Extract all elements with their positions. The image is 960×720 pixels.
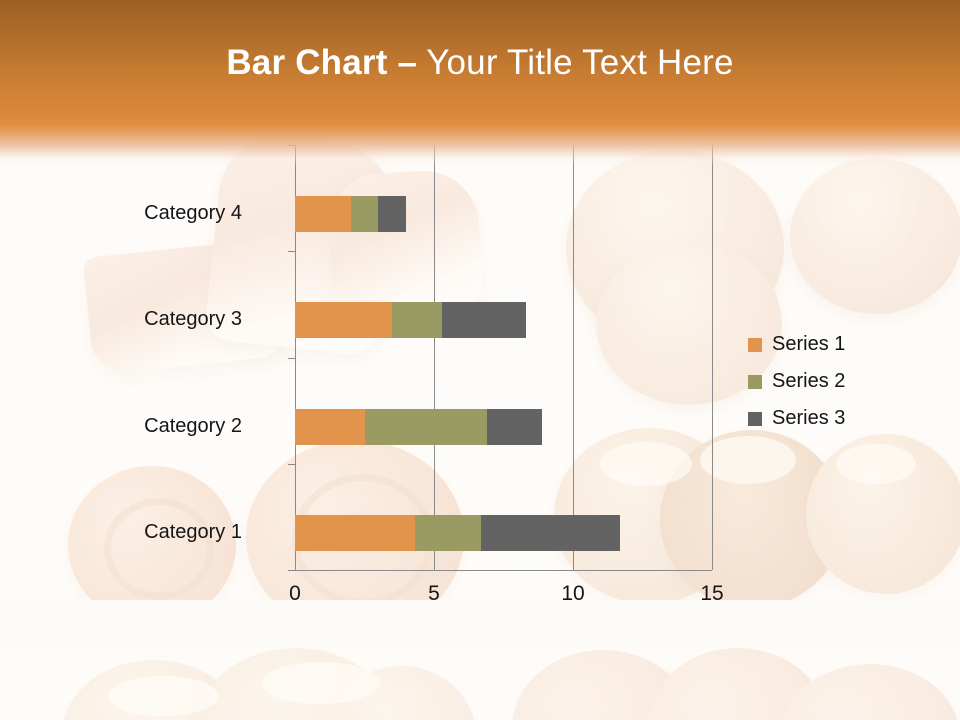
gridline-10 bbox=[573, 145, 574, 570]
bar-segment-series-1[interactable] bbox=[295, 515, 415, 551]
legend-label: Series 2 bbox=[772, 370, 845, 393]
category-label-category-2: Category 2 bbox=[144, 415, 242, 438]
bar-segment-series-2[interactable] bbox=[365, 409, 487, 445]
x-tick-label-10: 10 bbox=[561, 582, 584, 606]
header-gradient-fade bbox=[0, 125, 960, 167]
bar-segment-series-2[interactable] bbox=[392, 302, 442, 338]
legend-swatch-series-1 bbox=[748, 338, 762, 352]
bar-segment-series-2[interactable] bbox=[351, 196, 379, 232]
chart-legend: Series 1Series 2Series 3 bbox=[748, 326, 845, 437]
legend-item-series-2[interactable]: Series 2 bbox=[748, 363, 845, 400]
x-tick-label-5: 5 bbox=[428, 582, 440, 606]
bar-segment-series-3[interactable] bbox=[442, 302, 525, 338]
bar-category-3[interactable] bbox=[295, 302, 526, 338]
bar-category-4[interactable] bbox=[295, 196, 406, 232]
legend-item-series-1[interactable]: Series 1 bbox=[748, 326, 845, 363]
category-label-category-1: Category 1 bbox=[144, 521, 242, 544]
x-tick-label-15: 15 bbox=[700, 582, 723, 606]
plot-area bbox=[295, 145, 712, 570]
bar-segment-series-2[interactable] bbox=[415, 515, 482, 551]
axis-tick-minor bbox=[288, 251, 296, 252]
slide-canvas: Bar Chart – Your Title Text Here Categor… bbox=[0, 0, 960, 720]
legend-swatch-series-2 bbox=[748, 375, 762, 389]
bar-category-2[interactable] bbox=[295, 409, 542, 445]
bar-category-1[interactable] bbox=[295, 515, 620, 551]
category-label-category-4: Category 4 bbox=[144, 202, 242, 225]
gridline-5 bbox=[434, 145, 435, 570]
bar-segment-series-1[interactable] bbox=[295, 302, 392, 338]
axis-tick-minor bbox=[288, 570, 296, 571]
legend-label: Series 1 bbox=[772, 333, 845, 356]
x-tick-label-0: 0 bbox=[289, 582, 301, 606]
bar-segment-series-3[interactable] bbox=[481, 515, 620, 551]
bar-segment-series-3[interactable] bbox=[378, 196, 406, 232]
page-title: Bar Chart – Your Title Text Here bbox=[0, 0, 960, 125]
gridline-15 bbox=[712, 145, 713, 570]
legend-swatch-series-3 bbox=[748, 412, 762, 426]
category-label-category-3: Category 3 bbox=[144, 308, 242, 331]
bar-segment-series-3[interactable] bbox=[487, 409, 543, 445]
axis-tick-minor bbox=[288, 358, 296, 359]
page-title-strong: Bar Chart – bbox=[226, 43, 417, 83]
legend-label: Series 3 bbox=[772, 407, 845, 430]
bar-segment-series-1[interactable] bbox=[295, 409, 365, 445]
bar-segment-series-1[interactable] bbox=[295, 196, 351, 232]
page-title-light: Your Title Text Here bbox=[426, 43, 734, 83]
x-axis-line bbox=[295, 570, 712, 571]
legend-item-series-3[interactable]: Series 3 bbox=[748, 400, 845, 437]
axis-tick-minor bbox=[288, 464, 296, 465]
